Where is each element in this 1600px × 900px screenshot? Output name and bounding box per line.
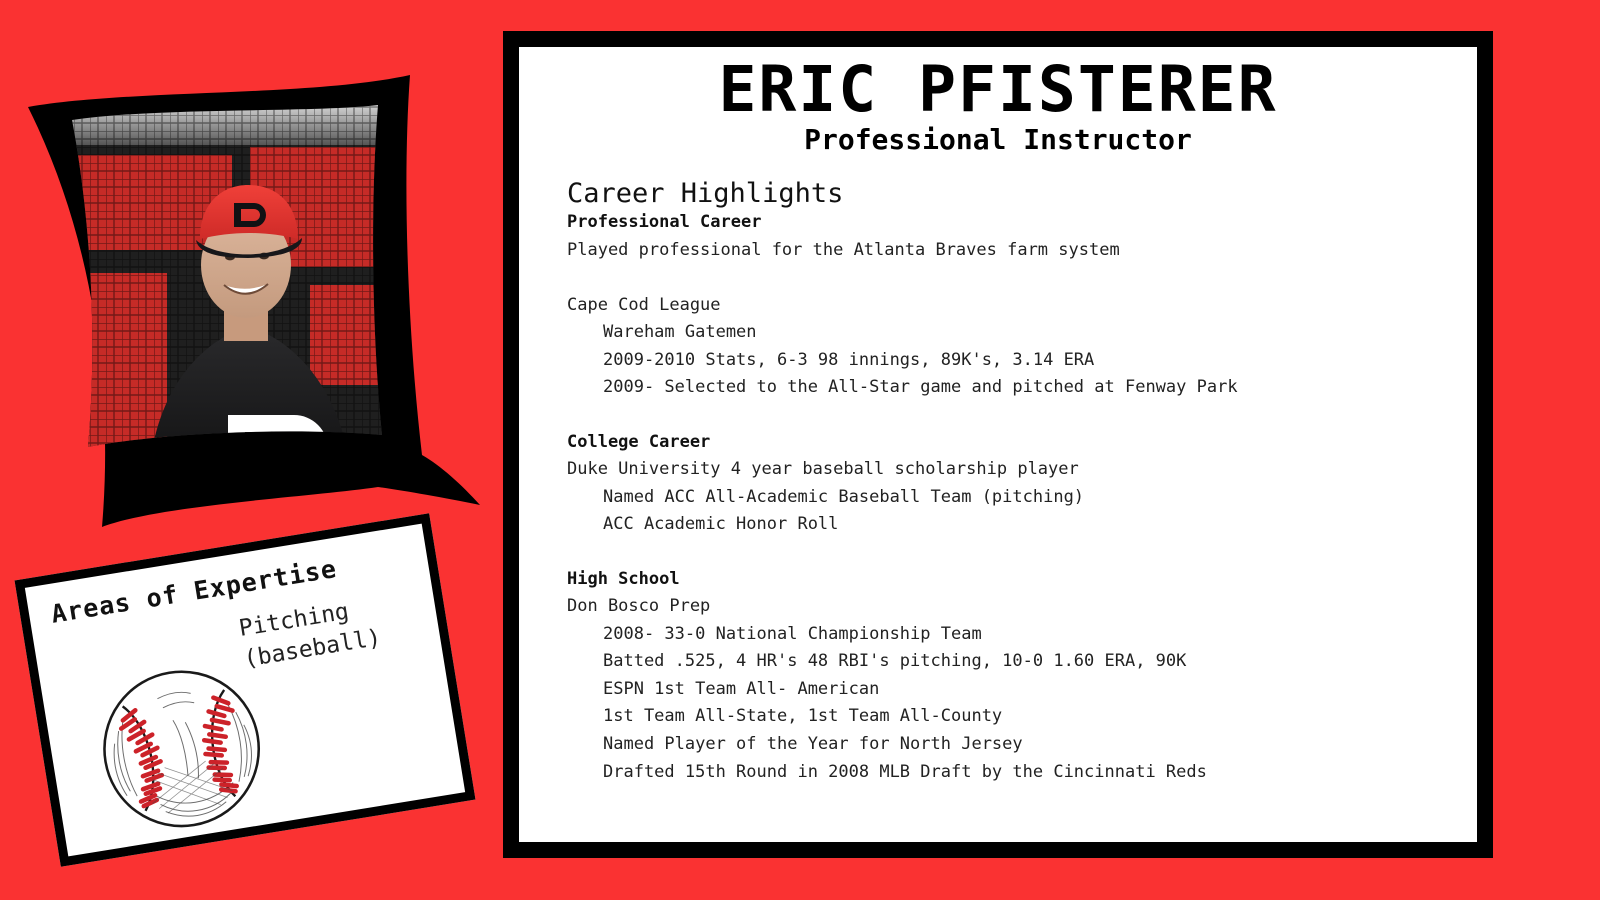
expertise-skill-text: Pitching (baseball) (237, 592, 384, 675)
resume-panel-inner: ERIC PFISTERER Professional Instructor C… (519, 47, 1477, 842)
career-line: ACC Academic Honor Roll (567, 511, 1477, 539)
career-block-subheading: College Career (567, 429, 1477, 457)
resume-panel: ERIC PFISTERER Professional Instructor C… (503, 31, 1493, 858)
career-line: Don Bosco Prep (567, 593, 1477, 621)
career-block-spacer (519, 402, 1477, 429)
career-line: 1st Team All-State, 1st Team All-County (567, 703, 1477, 731)
baseball-icon (80, 647, 284, 851)
portrait-photo (60, 95, 405, 483)
career-block-subheading: High School (567, 566, 1477, 594)
career-highlights-list: Professional CareerPlayed professional f… (519, 209, 1477, 786)
career-line: Batted .525, 4 HR's 48 RBI's pitching, 1… (567, 648, 1477, 676)
career-line (567, 264, 1477, 292)
page-subtitle: Professional Instructor (519, 125, 1477, 156)
career-line: 2009-2010 Stats, 6-3 98 innings, 89K's, … (567, 347, 1477, 375)
career-highlights-heading: Career Highlights (567, 178, 1477, 209)
career-line: Named Player of the Year for North Jerse… (567, 731, 1477, 759)
career-block: Professional CareerPlayed professional f… (567, 209, 1477, 402)
portrait-frame (10, 35, 490, 560)
career-line: Wareham Gatemen (567, 319, 1477, 347)
career-line: Named ACC All-Academic Baseball Team (pi… (567, 484, 1477, 512)
areas-of-expertise-card: Areas of Expertise Pitching (baseball) (15, 513, 476, 866)
career-line: Drafted 15th Round in 2008 MLB Draft by … (567, 759, 1477, 787)
career-block-subheading: Professional Career (567, 209, 1477, 237)
page-title: ERIC PFISTERER (519, 57, 1477, 123)
career-line: 2008- 33-0 National Championship Team (567, 621, 1477, 649)
career-line: Duke University 4 year baseball scholars… (567, 456, 1477, 484)
career-block: High SchoolDon Bosco Prep2008- 33-0 Nati… (567, 566, 1477, 786)
career-line: 2009- Selected to the All-Star game and … (567, 374, 1477, 402)
career-line: Played professional for the Atlanta Brav… (567, 237, 1477, 265)
career-block: College CareerDuke University 4 year bas… (567, 429, 1477, 539)
career-block-spacer (519, 539, 1477, 566)
portrait-frame-svg (10, 35, 490, 560)
career-line: ESPN 1st Team All- American (567, 676, 1477, 704)
career-line: Cape Cod League (567, 292, 1477, 320)
